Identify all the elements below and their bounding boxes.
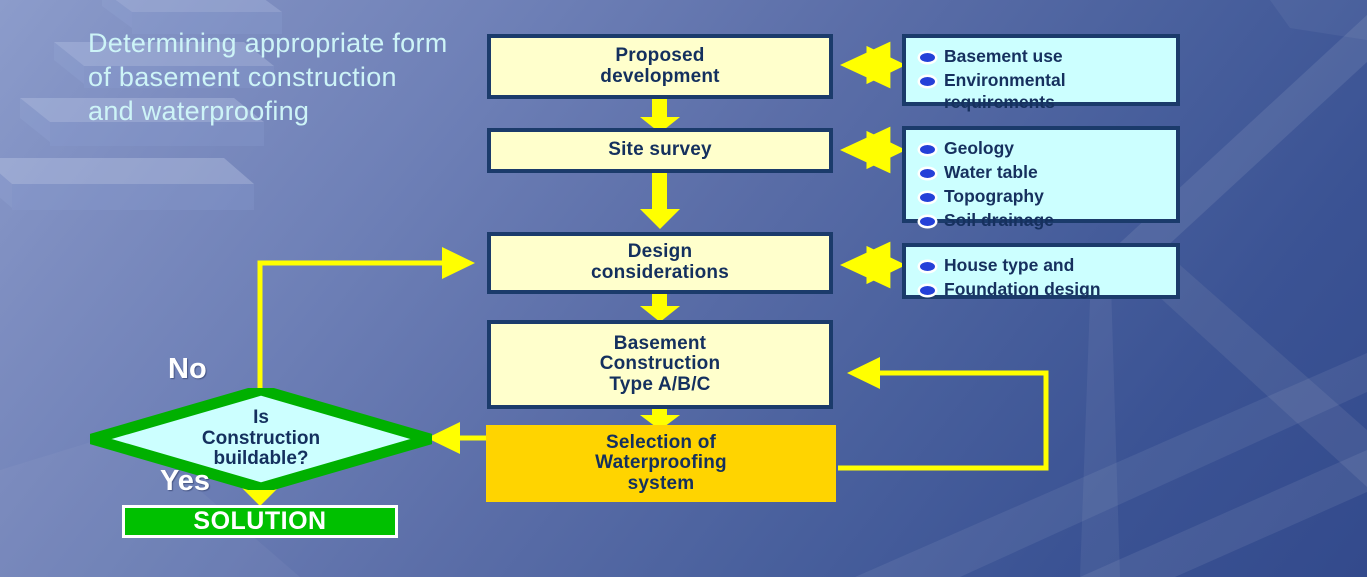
list-item: Environmental requirements xyxy=(916,69,1168,113)
bullet-icon xyxy=(920,262,935,271)
bullet-icon xyxy=(920,145,935,154)
node-proposed-development[interactable]: Proposed development xyxy=(487,34,833,99)
list-item-label: Soil drainage xyxy=(944,210,1054,230)
list-item: Foundation design xyxy=(916,278,1168,300)
list-item-label: Basement use xyxy=(944,46,1063,66)
list-item: House type and xyxy=(916,254,1168,276)
annotation-list: Geology Water table Topography Soil drai… xyxy=(916,137,1168,231)
branch-label-no: No xyxy=(168,353,207,386)
list-item-label: Geology xyxy=(944,138,1014,158)
list-item: Geology xyxy=(916,137,1168,159)
page-title: Determining appropriate form of basement… xyxy=(88,26,448,128)
annotation-design-considerations[interactable]: House type and Foundation design xyxy=(902,243,1180,299)
list-item-label: Environmental requirements xyxy=(944,70,1066,112)
node-label: Design considerations xyxy=(591,242,729,283)
list-item: Soil drainage xyxy=(916,209,1168,231)
bullet-icon xyxy=(920,217,935,226)
annotation-site-survey[interactable]: Geology Water table Topography Soil drai… xyxy=(902,126,1180,223)
annotation-proposed-development[interactable]: Basement use Environmental requirements xyxy=(902,34,1180,106)
bullet-icon xyxy=(920,53,935,62)
node-label: Is Construction buildable? xyxy=(90,388,432,490)
node-label: Selection of Waterproofing system xyxy=(595,433,727,495)
bullet-icon xyxy=(920,77,935,86)
arrow-site-to-design xyxy=(640,173,680,229)
node-label: Basement Construction Type A/B/C xyxy=(600,334,721,396)
node-design-considerations[interactable]: Design considerations xyxy=(487,232,833,294)
list-item: Topography xyxy=(916,185,1168,207)
list-item-label: Foundation design xyxy=(944,279,1101,299)
annotation-list: Basement use Environmental requirements xyxy=(916,45,1168,113)
node-is-construction-buildable[interactable]: Is Construction buildable? xyxy=(90,388,432,490)
node-label: Site survey xyxy=(608,140,712,161)
node-label: Proposed development xyxy=(600,46,719,87)
arrow-design-to-basement xyxy=(640,294,680,322)
list-item-label: House type and xyxy=(944,255,1074,275)
bullet-icon xyxy=(920,193,935,202)
list-item: Basement use xyxy=(916,45,1168,67)
node-label: SOLUTION xyxy=(193,508,326,535)
node-solution[interactable]: SOLUTION xyxy=(122,505,398,538)
list-item-label: Water table xyxy=(944,162,1038,182)
node-site-survey[interactable]: Site survey xyxy=(487,128,833,173)
node-selection-waterproofing[interactable]: Selection of Waterproofing system xyxy=(486,425,836,502)
annotation-list: House type and Foundation design xyxy=(916,254,1168,300)
bullet-icon xyxy=(920,169,935,178)
arrow-no-feedback-to-design xyxy=(260,263,470,401)
slide-canvas: Determining appropriate form of basement… xyxy=(0,0,1367,577)
arrow-waterproofing-feedback-to-basement xyxy=(838,373,1046,468)
branch-label-yes: Yes xyxy=(160,465,210,498)
list-item-label: Topography xyxy=(944,186,1044,206)
node-basement-construction[interactable]: Basement Construction Type A/B/C xyxy=(487,320,833,409)
bullet-icon xyxy=(920,286,935,295)
list-item: Water table xyxy=(916,161,1168,183)
